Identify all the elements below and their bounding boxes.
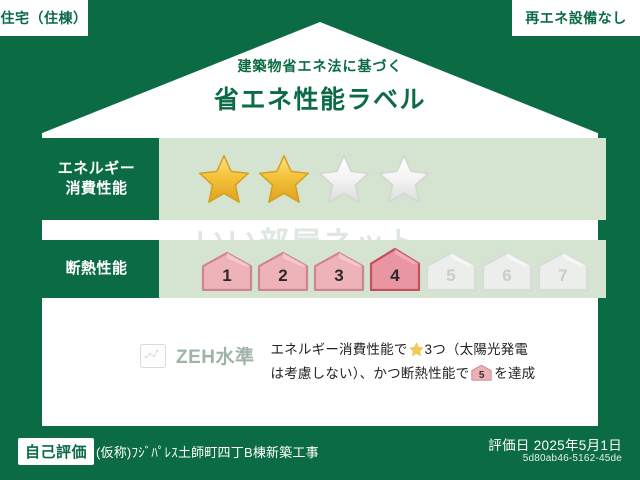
building-type-tag: 住宅（住棟） [0, 0, 88, 36]
star-filled-icon [197, 153, 251, 205]
insulation-badge-number: 2 [278, 266, 287, 286]
star-empty-icon [317, 153, 371, 205]
inline-star-icon [409, 342, 424, 364]
insulation-badge-7: 7 [537, 251, 589, 291]
title-main: 省エネ性能ラベル [0, 80, 640, 116]
self-evaluation-badge: 自己評価 [18, 438, 94, 465]
zeh-text-part1: エネルギー消費性能で [271, 342, 408, 357]
zeh-description: エネルギー消費性能で3つ（太陽光発電 は考慮しない）、かつ断熱性能で 5 を達成 [271, 340, 536, 385]
insulation-badge-number: 1 [222, 266, 231, 286]
insulation-label: 断熱性能 [65, 259, 127, 279]
energy-label-line1: エネルギー [58, 159, 136, 179]
project-name: (仮称)ﾌｼﾞﾊﾟﾚｽ土師町四丁B棟新築工事 [96, 442, 319, 461]
star-filled-icon [257, 153, 311, 205]
zeh-standard-note: ZEH水準 エネルギー消費性能で3つ（太陽光発電 は考慮しない）、かつ断熱性能で… [140, 340, 560, 385]
insulation-badge-2: 2 [257, 251, 309, 291]
insulation-badge-3: 3 [313, 251, 365, 291]
energy-label-line2: 消費性能 [65, 179, 127, 199]
inline-badge-number: 5 [471, 371, 492, 381]
title-subtitle: 建築物省エネ法に基づく [0, 56, 640, 76]
insulation-badge-number: 3 [334, 266, 343, 286]
energy-performance-row-label: エネルギー 消費性能 [34, 138, 159, 220]
zeh-text-part4: を達成 [494, 366, 535, 381]
insulation-level-scale: 1234567 [201, 247, 589, 291]
renewable-energy-tag: 再エネ設備なし [512, 0, 640, 36]
insulation-badge-1: 1 [201, 251, 253, 291]
building-type-label: 住宅（住棟） [1, 8, 88, 28]
insulation-badge-number: 4 [390, 266, 399, 286]
renewable-energy-label: 再エネ設備なし [525, 8, 627, 28]
insulation-badge-number: 6 [502, 266, 511, 286]
energy-performance-row-body [159, 138, 606, 220]
insulation-badge-5: 5 [425, 251, 477, 291]
label-footer: 自己評価 (仮称)ﾌｼﾞﾊﾟﾚｽ土師町四丁B棟新築工事 評価日 2025年5月1… [0, 426, 640, 480]
label-title: 建築物省エネ法に基づく 省エネ性能ラベル [0, 56, 640, 116]
star-empty-icon [377, 153, 431, 205]
energy-performance-row: エネルギー 消費性能 [34, 138, 606, 220]
insulation-badge-6: 6 [481, 251, 533, 291]
star-rating [197, 153, 431, 205]
zeh-checkbox-icon [140, 344, 166, 368]
insulation-performance-row-label: 断熱性能 [34, 240, 159, 298]
insulation-performance-row: 断熱性能 1234567 [34, 240, 606, 298]
zeh-text-part2: 3つ（太陽光発電 [425, 342, 529, 357]
zeh-standard-name: ZEH水準 [176, 342, 255, 369]
insulation-performance-row-body: 1234567 [159, 240, 606, 298]
insulation-badge-4: 4 [369, 247, 421, 291]
insulation-badge-number: 5 [446, 266, 455, 286]
energy-performance-label: 住宅（住棟） 再エネ設備なし 建築物省エネ法に基づく 省エネ性能ラベル いい部屋… [0, 0, 640, 480]
evaluation-date: 評価日 2025年5月1日 [488, 434, 622, 454]
zeh-text-part3: は考慮しない）、かつ断熱性能で [271, 366, 470, 381]
evaluation-id: 5d80ab46-5162-45de [523, 453, 622, 464]
insulation-badge-number: 7 [558, 266, 567, 286]
inline-insulation-badge: 5 [471, 364, 492, 381]
